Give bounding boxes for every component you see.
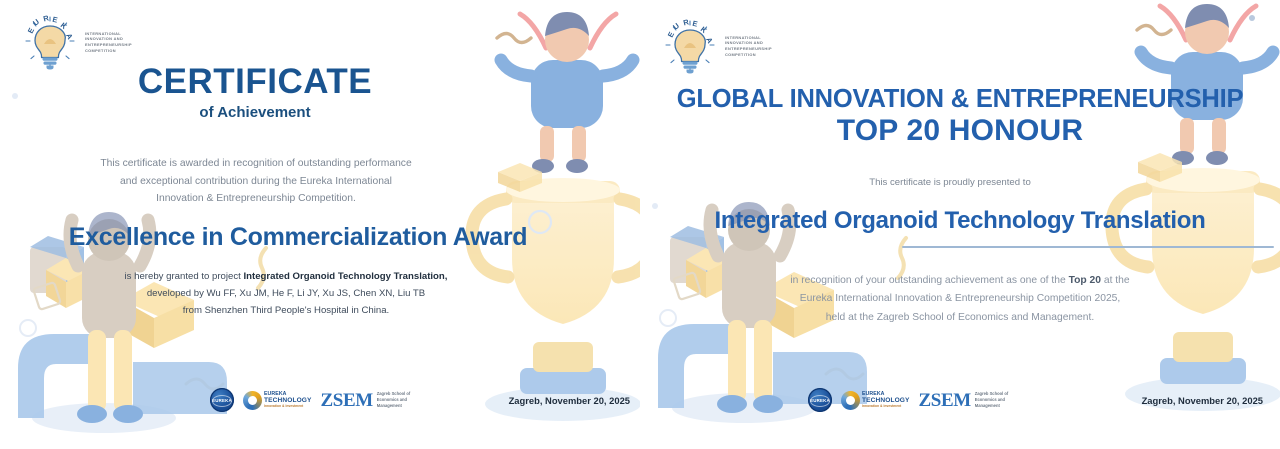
eureka-seal-label: EUREKA (810, 398, 830, 403)
grant-line-2: developed by Wu FF, Xu JM, He F, Li JY, … (0, 285, 572, 302)
eureka-technology-logo: EUREKA TECHNOLOGY Innovation & Investmen… (841, 391, 910, 410)
grant-project: Integrated Organoid Technology Translati… (243, 271, 447, 282)
svg-text:A: A (64, 32, 75, 41)
presented-to-text: This certificate is proudly presented to (640, 175, 1260, 192)
person-in-trophy-illustration (501, 12, 633, 173)
org-line-4: COMPETITION (725, 52, 772, 58)
svg-text:A: A (704, 36, 715, 45)
svg-text:U: U (31, 17, 41, 27)
zsem-subtitle: Zagreb School of Economics and Managemen… (377, 391, 410, 409)
recognition-prefix: in recognition of your outstanding achie… (790, 275, 1068, 286)
org-line-4: COMPETITION (85, 48, 132, 54)
grant-line-1: is hereby granted to project Integrated … (0, 268, 572, 285)
page-subtitle: of Achievement (0, 104, 510, 121)
eureka-technology-logo: EUREKA TECHNOLOGY Innovation & Investmen… (243, 391, 312, 410)
eureka-seal-label: EUREKA (212, 398, 232, 403)
place-date-right: Zagreb, November 20, 2025 (1142, 395, 1263, 406)
award-title: Excellence in Commercialization Award (0, 224, 596, 250)
svg-text:E: E (52, 15, 59, 25)
svg-text:R: R (682, 18, 690, 27)
svg-text:E: E (26, 26, 36, 35)
intro-paragraph: This certificate is awarded in recogniti… (0, 155, 512, 208)
lightbulb-icon: E U R E K A (22, 14, 78, 70)
org-name-right: INTERNATIONAL INNOVATION AND ENTREPRENEU… (725, 35, 772, 58)
grant-prefix: is hereby granted to project (125, 271, 244, 282)
honour-heading-line-2: TOP 20 HONOUR (640, 114, 1280, 147)
recognition-suffix: at the (1101, 275, 1130, 286)
eureka-logo-right: E U R E K A INTERNATIONAL INNOVATION AND… (662, 18, 772, 74)
org-line-3: ENTREPRENEURSHIP (85, 42, 132, 48)
intro-line-3: Innovation & Entrepreneurship Competitio… (0, 190, 512, 208)
top20-heading-block: GLOBAL INNOVATION & ENTREPRENEURSHIP TOP… (640, 85, 1280, 147)
globe-swoosh-icon (243, 391, 262, 410)
partner-logos: EUREKA EUREKA TECHNOLOGY Innovation & In… (210, 388, 410, 412)
intro-line-2: and exceptional contribution during the … (0, 173, 512, 191)
org-name-left: INTERNATIONAL INNOVATION AND ENTREPRENEU… (85, 31, 132, 54)
globe-swoosh-icon (841, 391, 860, 410)
recognition-bold: Top 20 (1069, 275, 1101, 286)
certificate-top20: E U R E K A INTERNATIONAL INNOVATION AND… (640, 0, 1280, 449)
recognition-line-2: Eureka International Innovation & Entrep… (640, 290, 1280, 308)
certificate-footer-left: EUREKA EUREKA TECHNOLOGY Innovation & In… (210, 388, 630, 412)
zsem-subtitle: Zagreb School of Economics and Managemen… (975, 391, 1008, 409)
svg-text:U: U (671, 21, 681, 31)
recipient-title: Integrated Organoid Technology Translati… (640, 208, 1280, 233)
eureka-logo-left: E U R E K A INTERNATIONAL INNOVATION AND… (22, 14, 132, 70)
zsem-logo: ZSEM Zagreb School of Economics and Mana… (919, 391, 1009, 410)
zsem-logo: ZSEM Zagreb School of Economics and Mana… (321, 391, 411, 410)
place-date-left: Zagreb, November 20, 2025 (509, 395, 630, 406)
certificate-achievement: E U R E K A INTERNATIONAL INNOVATION AND… (0, 0, 640, 449)
svg-text:E: E (666, 30, 676, 39)
recognition-line-1: in recognition of your outstanding achie… (640, 272, 1280, 290)
tech-logo-line-3: Innovation & Investment (862, 405, 910, 408)
lightbulb-icon: E U R E K A (662, 18, 718, 74)
certificate-footer-right: EUREKA EUREKA TECHNOLOGY Innovation & In… (808, 388, 1263, 412)
svg-text:E: E (692, 19, 699, 29)
zsem-wordmark: ZSEM (919, 391, 971, 410)
zsem-sub-line-3: Management (377, 403, 410, 409)
org-line-3: ENTREPRENEURSHIP (725, 46, 772, 52)
zsem-wordmark: ZSEM (321, 391, 373, 410)
certificates-stage: E U R E K A INTERNATIONAL INNOVATION AND… (0, 0, 1280, 449)
partner-logos: EUREKA EUREKA TECHNOLOGY Innovation & In… (808, 388, 1008, 412)
intro-line-1: This certificate is awarded in recogniti… (0, 155, 512, 173)
recognition-paragraph: in recognition of your outstanding achie… (640, 272, 1280, 327)
title-divider (902, 246, 1274, 248)
zsem-sub-line-3: Management (975, 403, 1008, 409)
recognition-line-3: held at the Zagreb School of Economics a… (640, 309, 1280, 327)
tech-logo-line-3: Innovation & Investment (264, 405, 312, 408)
eureka-seal-icon: EUREKA (808, 388, 832, 412)
honour-heading-line-1: GLOBAL INNOVATION & ENTREPRENEURSHIP (640, 85, 1280, 114)
certificate-heading-block: CERTIFICATE of Achievement (0, 64, 510, 121)
grant-line-3: from Shenzhen Third People's Hospital in… (0, 302, 572, 319)
grant-paragraph: is hereby granted to project Integrated … (0, 268, 572, 319)
page-title: CERTIFICATE (0, 64, 510, 99)
svg-text:R: R (42, 14, 50, 23)
eureka-seal-icon: EUREKA (210, 388, 234, 412)
